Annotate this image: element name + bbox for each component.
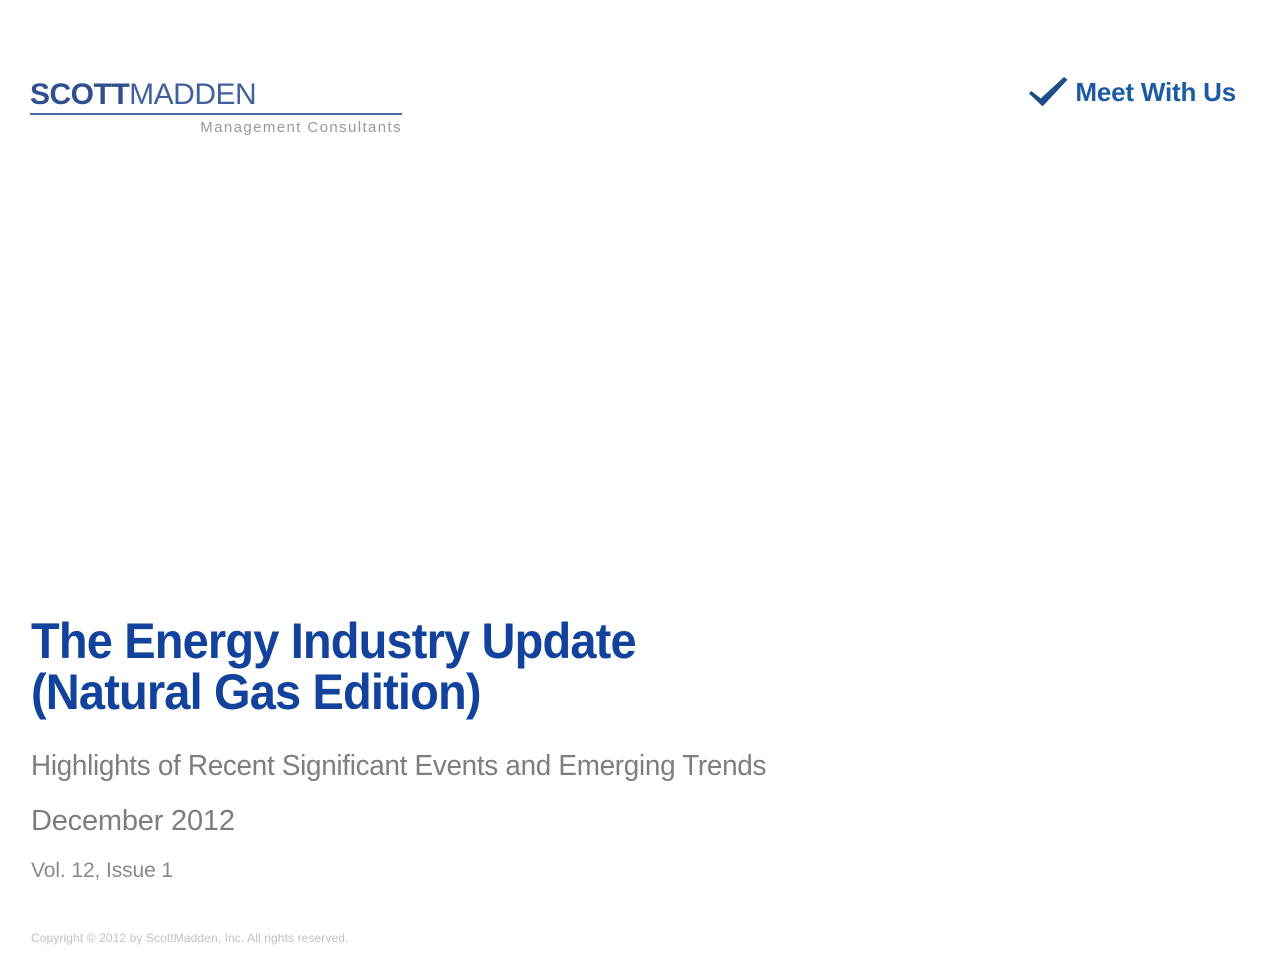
scottmadden-logo[interactable]: ScottMadden Management Consultants [30,68,402,136]
publication-date: December 2012 [31,805,1031,838]
page-title-line-1: The Energy Industry Update [31,616,971,667]
page-title: The Energy Industry Update (Natural Gas … [31,616,971,718]
meet-with-us-link[interactable]: Meet With Us [1027,76,1236,108]
title-slide: ScottMadden Management Consultants Meet … [0,0,1280,960]
copyright-notice: Copyright © 2012 by ScottMadden, Inc. Al… [31,931,348,945]
meet-with-us-label: Meet With Us [1075,77,1236,108]
page-title-line-2: (Natural Gas Edition) [31,667,971,718]
logo-wordmark: ScottMadden [30,68,402,112]
logo-tagline: Management Consultants [30,119,402,136]
logo-word-scott: Scott [30,66,129,114]
check-icon [1027,76,1069,108]
page-subtitle: Highlights of Recent Significant Events … [31,750,991,783]
volume-issue: Vol. 12, Issue 1 [31,859,1031,883]
logo-word-madden: Madden [129,66,256,114]
title-block: The Energy Industry Update (Natural Gas … [31,616,1031,883]
